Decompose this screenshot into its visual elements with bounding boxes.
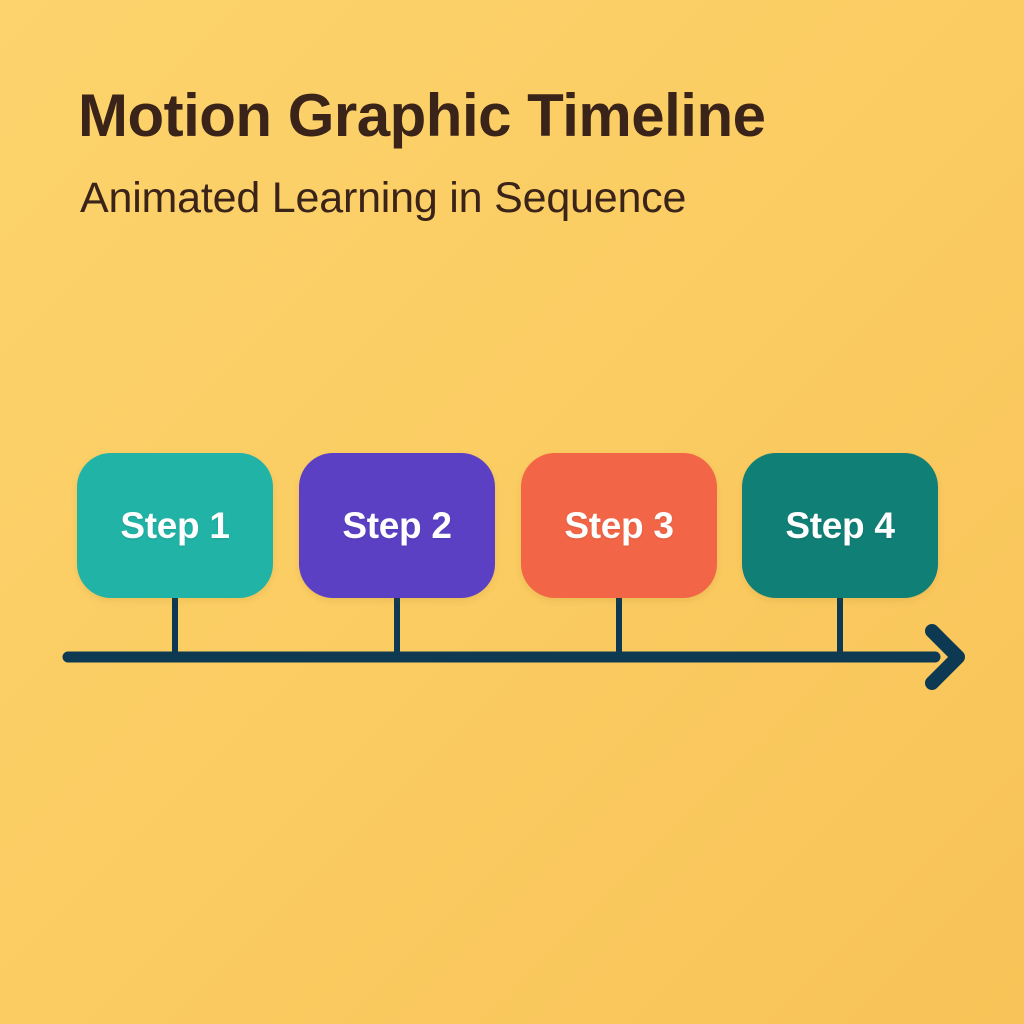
step-card-label: Step 2 (342, 505, 451, 547)
step-card-2[interactable]: Step 2 (299, 453, 495, 598)
timeline-stage: Step 1Step 2Step 3Step 4 (0, 0, 1024, 1024)
stem-group (175, 594, 840, 657)
step-card-label: Step 3 (564, 505, 673, 547)
step-card-4[interactable]: Step 4 (742, 453, 938, 598)
step-card-label: Step 1 (120, 505, 229, 547)
arrow-right-icon (932, 631, 958, 683)
step-card-1[interactable]: Step 1 (77, 453, 273, 598)
infographic-canvas: Motion Graphic Timeline Animated Learnin… (0, 0, 1024, 1024)
step-card-label: Step 4 (785, 505, 894, 547)
step-card-3[interactable]: Step 3 (521, 453, 717, 598)
